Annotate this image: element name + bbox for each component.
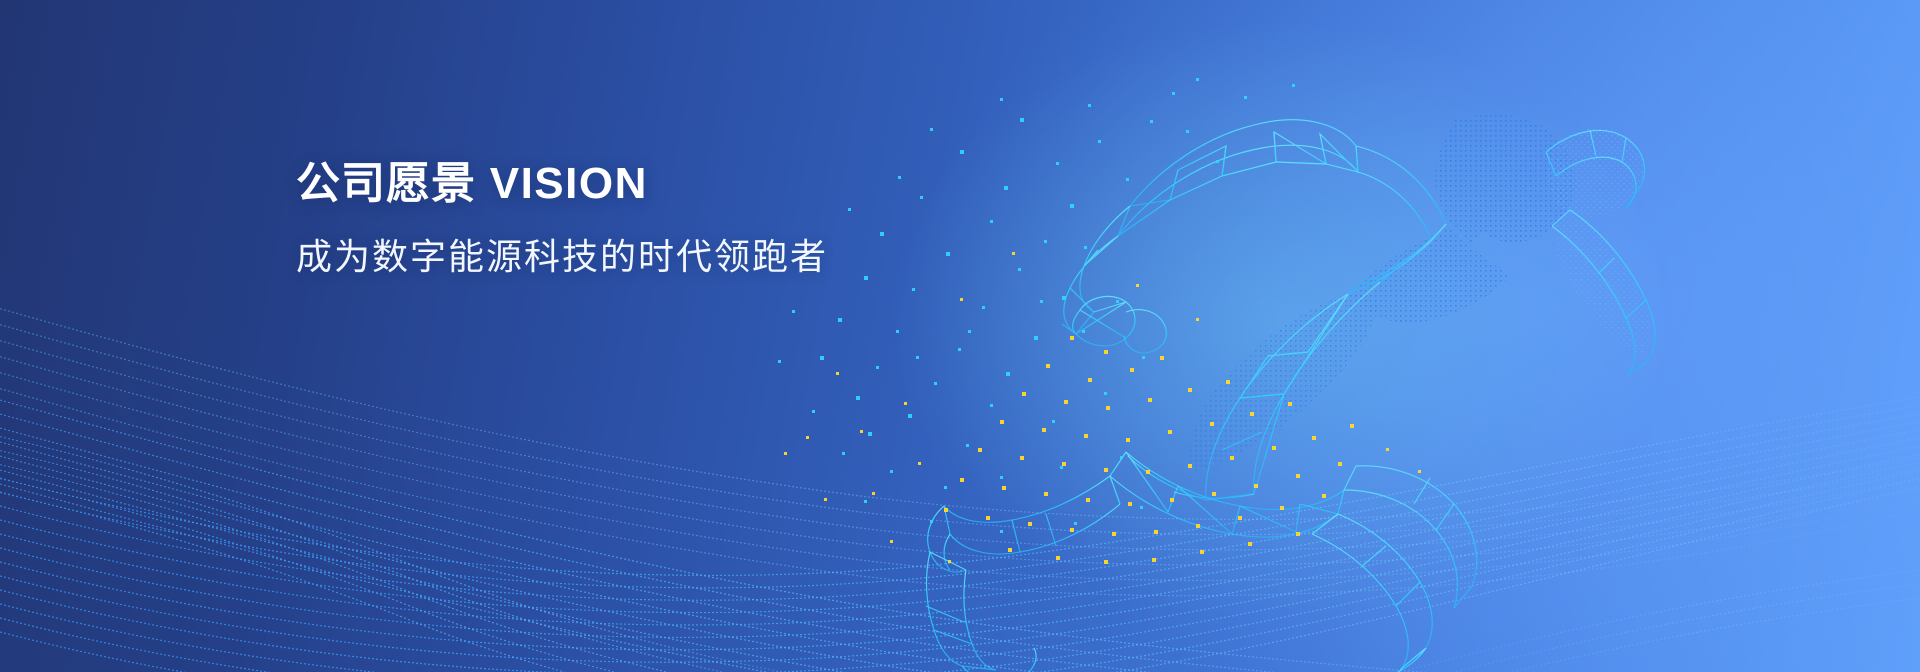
- headline-latin-text: VISION: [490, 159, 648, 208]
- vision-banner: 公司愿景 VISION 成为数字能源科技的时代领跑者: [0, 0, 1920, 672]
- page-subtitle: 成为数字能源科技的时代领跑者: [296, 234, 996, 279]
- page-title: 公司愿景 VISION: [296, 158, 996, 210]
- wireframe-runner-artwork: [0, 0, 1920, 672]
- headline-cn: 公司愿景: [296, 159, 476, 208]
- headline-latin: [476, 159, 490, 208]
- vision-text-block: 公司愿景 VISION 成为数字能源科技的时代领跑者: [296, 158, 996, 279]
